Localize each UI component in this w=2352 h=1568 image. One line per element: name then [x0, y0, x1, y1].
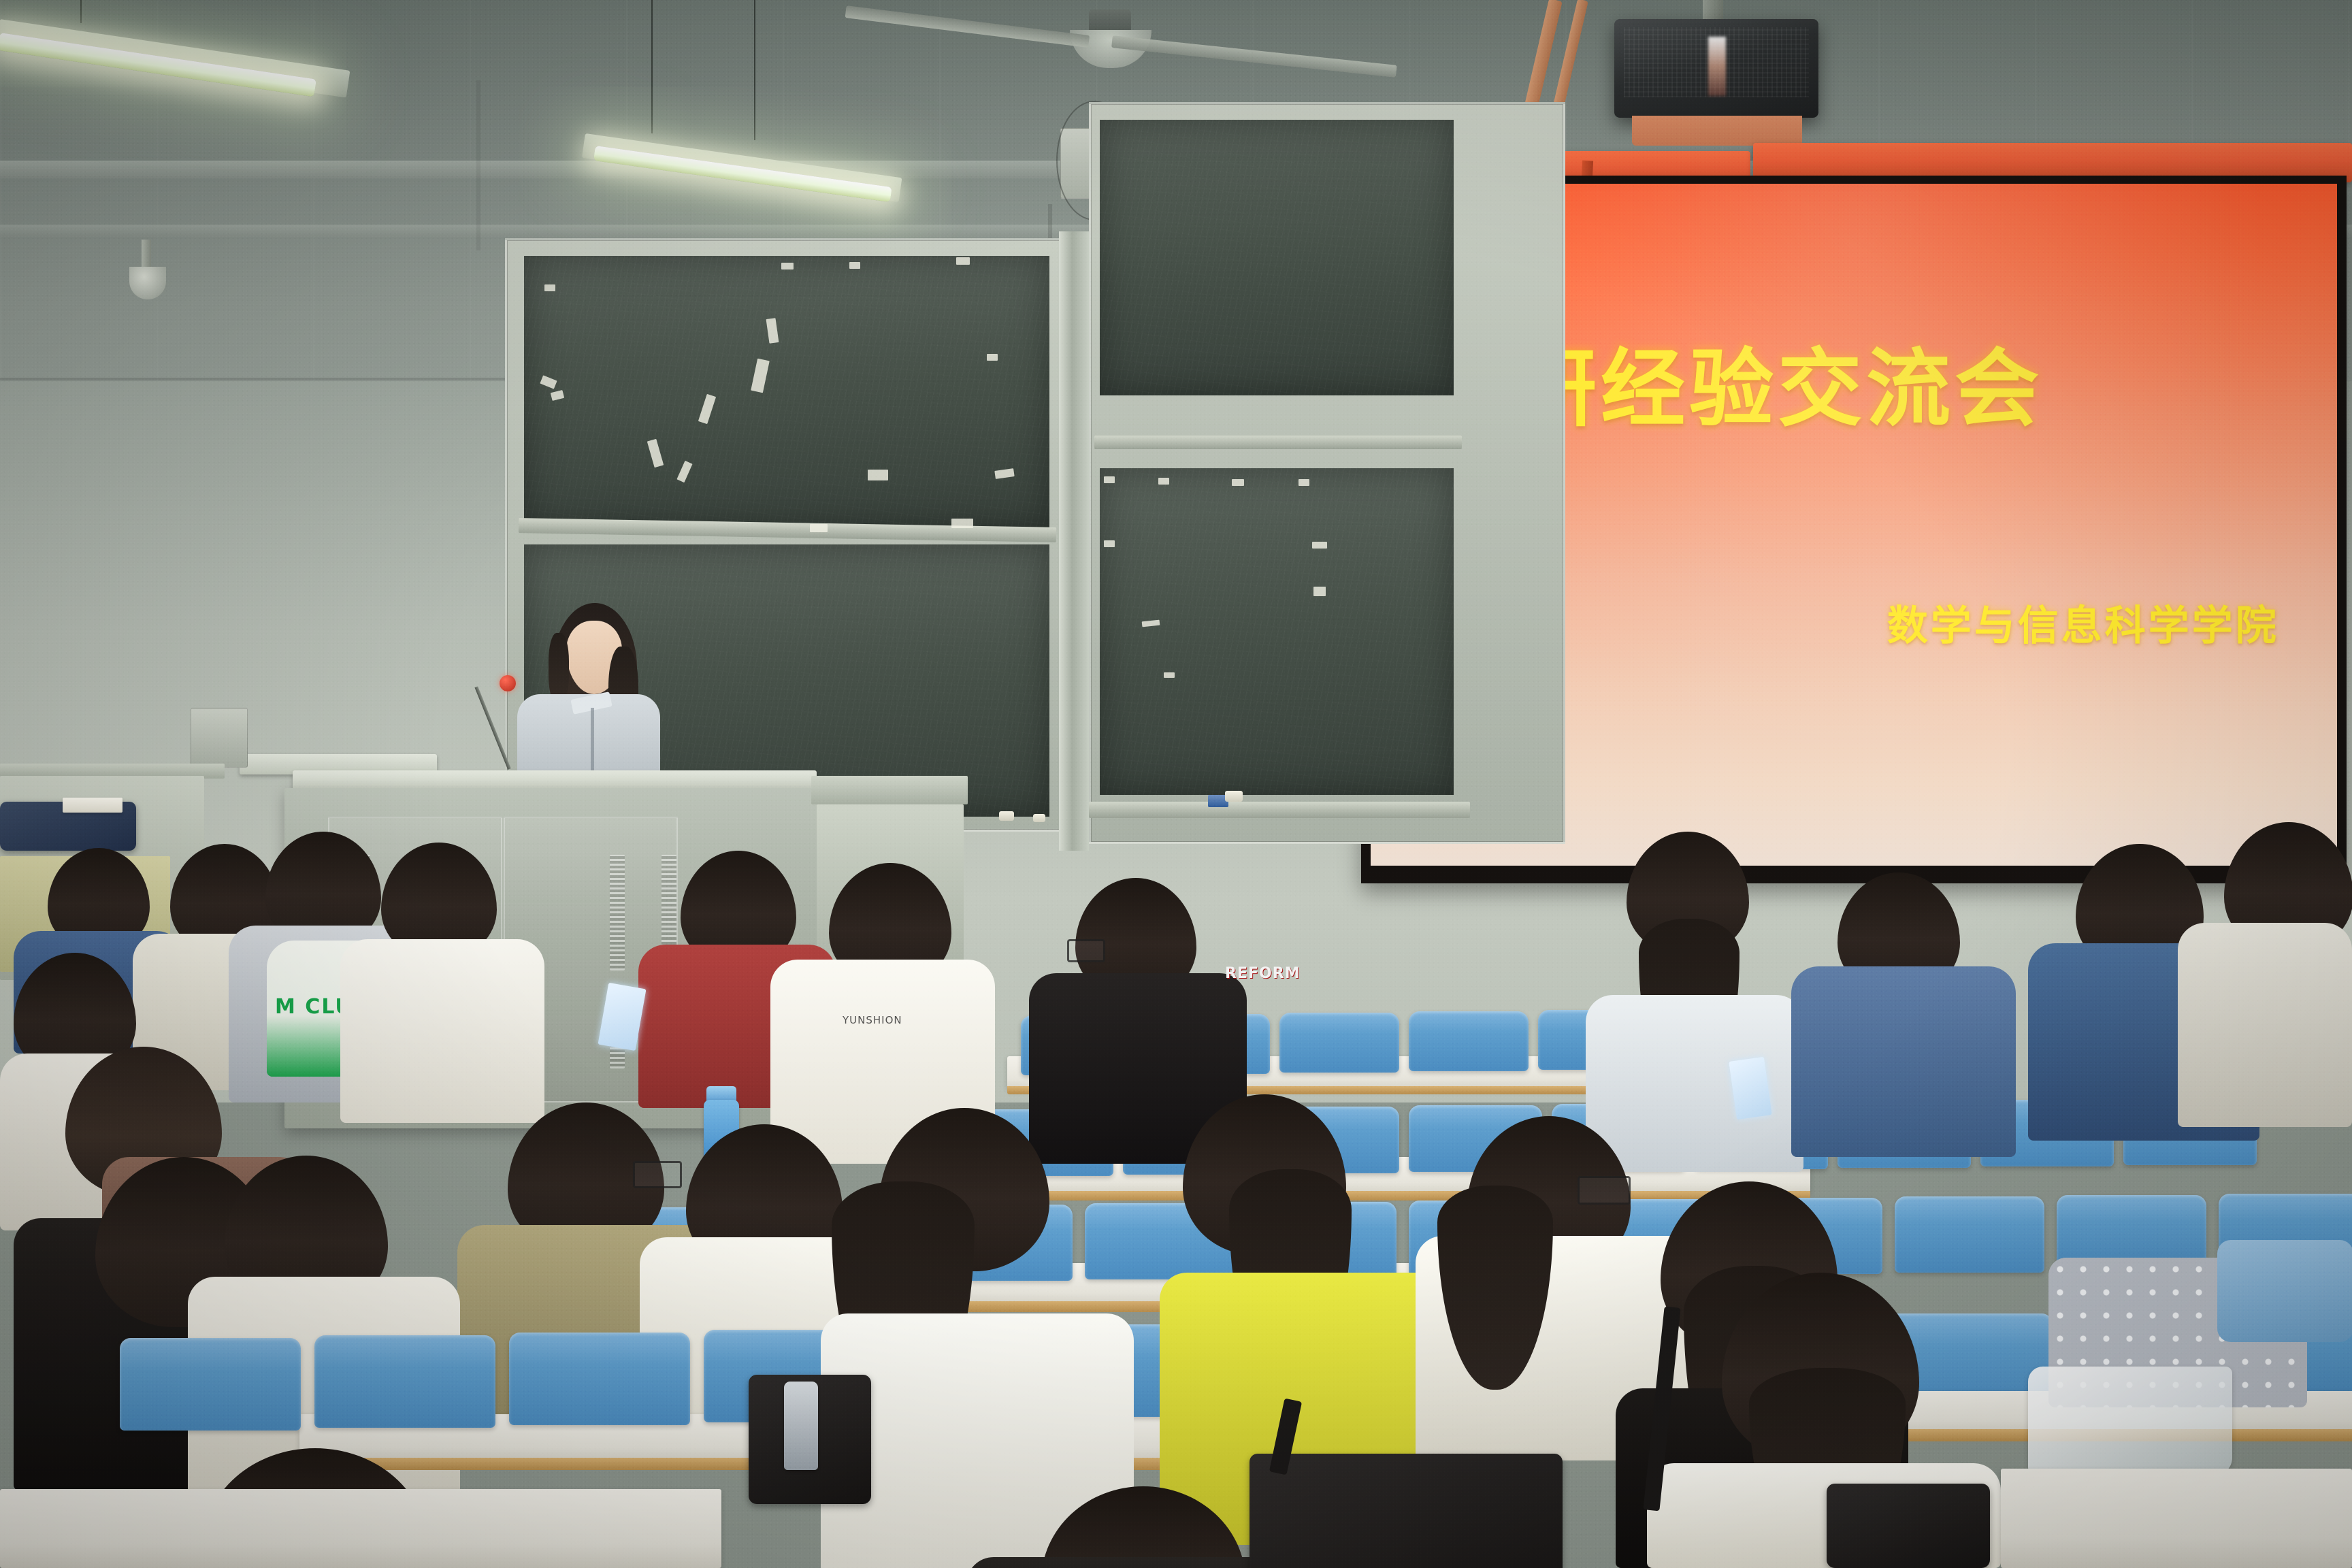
seat[interactable]	[1279, 1013, 1399, 1073]
chalk-mark	[1104, 476, 1115, 483]
speaker-hair-strand	[549, 633, 569, 704]
audience-torso-denim	[1791, 966, 2016, 1157]
bag[interactable]	[1827, 1484, 1990, 1568]
blackboard-panel-upper-right	[1100, 120, 1454, 395]
audience-torso	[2178, 923, 2352, 1127]
seat[interactable]	[120, 1338, 301, 1431]
chalk-mark	[1312, 542, 1327, 549]
chalk-mark	[1104, 540, 1115, 547]
chalk-mark	[1298, 479, 1309, 486]
chalk-mark	[1158, 478, 1169, 485]
chalk-stick[interactable]	[1225, 791, 1243, 802]
seat[interactable]	[1895, 1196, 2044, 1273]
wall-switch-panel[interactable]	[191, 708, 248, 768]
microphone-head	[500, 675, 516, 691]
chalk-mark	[956, 257, 970, 265]
tee-graphic-text: REFORM	[1225, 965, 1301, 982]
chalk-mark	[849, 262, 860, 269]
tee-logo-text: YUNSHION	[843, 1014, 902, 1026]
chalk-stick[interactable]	[1033, 814, 1045, 822]
eyeglasses	[633, 1161, 682, 1188]
eyeglasses	[1578, 1176, 1631, 1205]
chalk-stick[interactable]	[999, 811, 1014, 821]
light-wire-left-3	[754, 0, 755, 140]
audience-torso	[1586, 995, 1803, 1172]
chalk-mark	[951, 519, 973, 528]
wall-seam-4	[476, 80, 480, 250]
desk-front-strip-right	[2001, 1469, 2352, 1568]
chalk-mark	[544, 284, 555, 291]
chalk-mark	[1164, 672, 1175, 678]
desk-front-strip	[0, 1489, 721, 1568]
lecture-hall-photo: 考研经验交流会 数学与信息科学学院	[0, 0, 2352, 1568]
audience-torso	[340, 939, 544, 1123]
denim-garment	[2217, 1240, 2352, 1342]
blackboard-divider-post	[1059, 231, 1089, 851]
seat[interactable]	[509, 1333, 690, 1425]
blackboard-panel-upper-left	[524, 256, 1049, 528]
light-wire-left-2	[651, 0, 653, 133]
seat[interactable]	[1409, 1011, 1529, 1071]
chalk-mark	[1232, 479, 1244, 486]
chalk-ledge-lower-right	[1089, 802, 1470, 818]
chalk-mark	[781, 263, 794, 269]
slide-subtitle: 数学与信息科学学院	[1887, 593, 2279, 652]
projector-base	[1632, 116, 1802, 146]
chalk-ledge-upper-right	[1094, 436, 1462, 449]
podium-vent	[610, 855, 625, 970]
podium-side-cabinet	[811, 776, 968, 804]
white-plastic-bag[interactable]	[2028, 1367, 2232, 1475]
water-bottle[interactable]	[784, 1382, 818, 1470]
light-wire-left-1	[80, 0, 82, 23]
projector-lens-glow	[1708, 37, 1726, 96]
chalk-mark	[810, 524, 828, 532]
chalk-mark	[987, 354, 998, 361]
paper-on-cabinet	[63, 798, 122, 813]
seat[interactable]	[314, 1335, 495, 1428]
blackboard-panel-lower-right	[1100, 468, 1454, 795]
ceiling-projector	[1614, 19, 1818, 118]
chalk-mark	[868, 470, 888, 480]
black-handbag[interactable]	[1249, 1454, 1563, 1568]
eyeglasses	[1067, 939, 1105, 962]
chalk-mark	[1313, 587, 1326, 596]
